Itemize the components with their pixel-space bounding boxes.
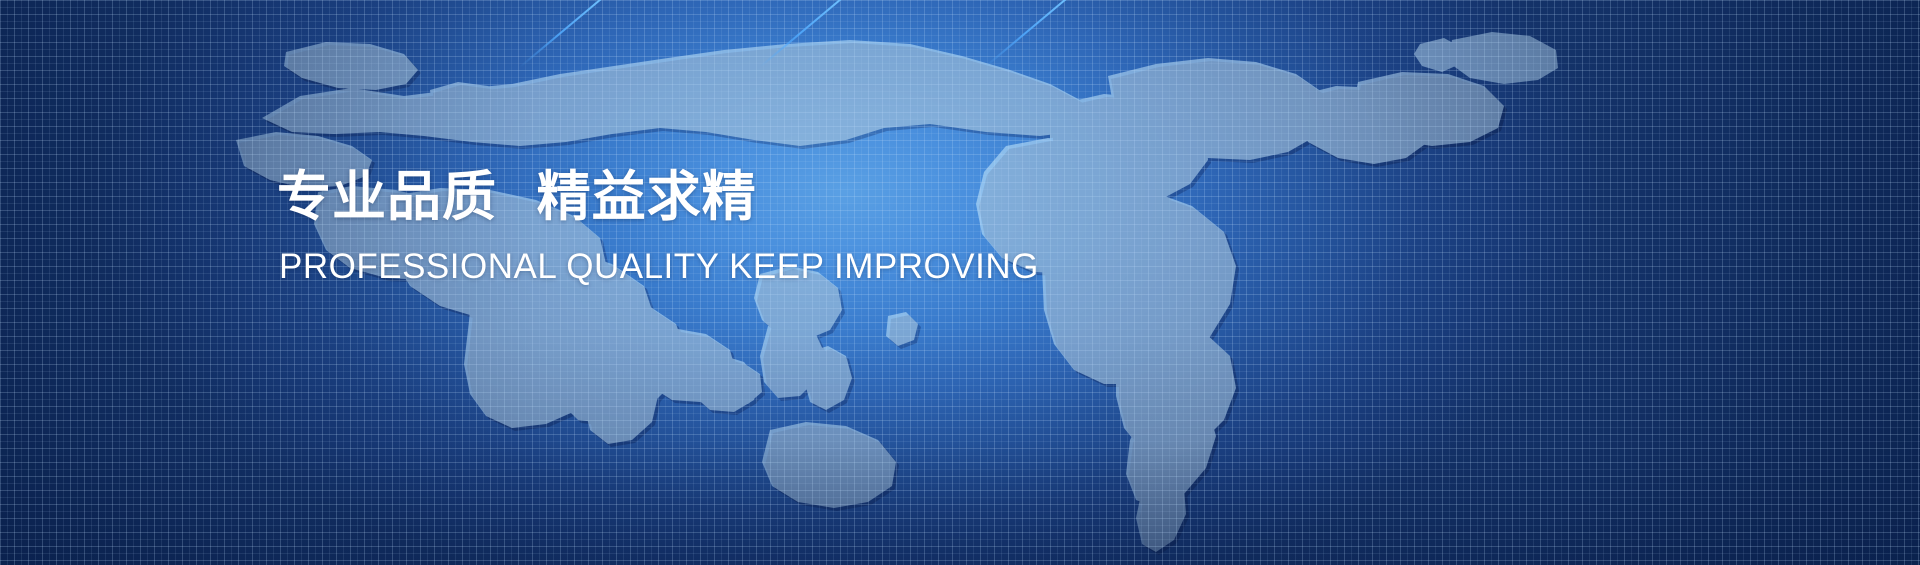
headline-chinese: 专业品质 精益求精 <box>277 168 1177 226</box>
light-streak-2 <box>759 0 933 68</box>
light-streak-1 <box>519 0 693 68</box>
hero-banner: 专业品质 精益求精 PROFESSIONAL QUALITY KEEP IMPR… <box>0 0 1920 565</box>
light-streak-3 <box>984 0 1158 68</box>
headline-english: PROFESSIONAL QUALITY KEEP IMPROVING <box>279 248 1177 287</box>
banner-text-block: 专业品质 精益求精 PROFESSIONAL QUALITY KEEP IMPR… <box>277 168 1177 287</box>
